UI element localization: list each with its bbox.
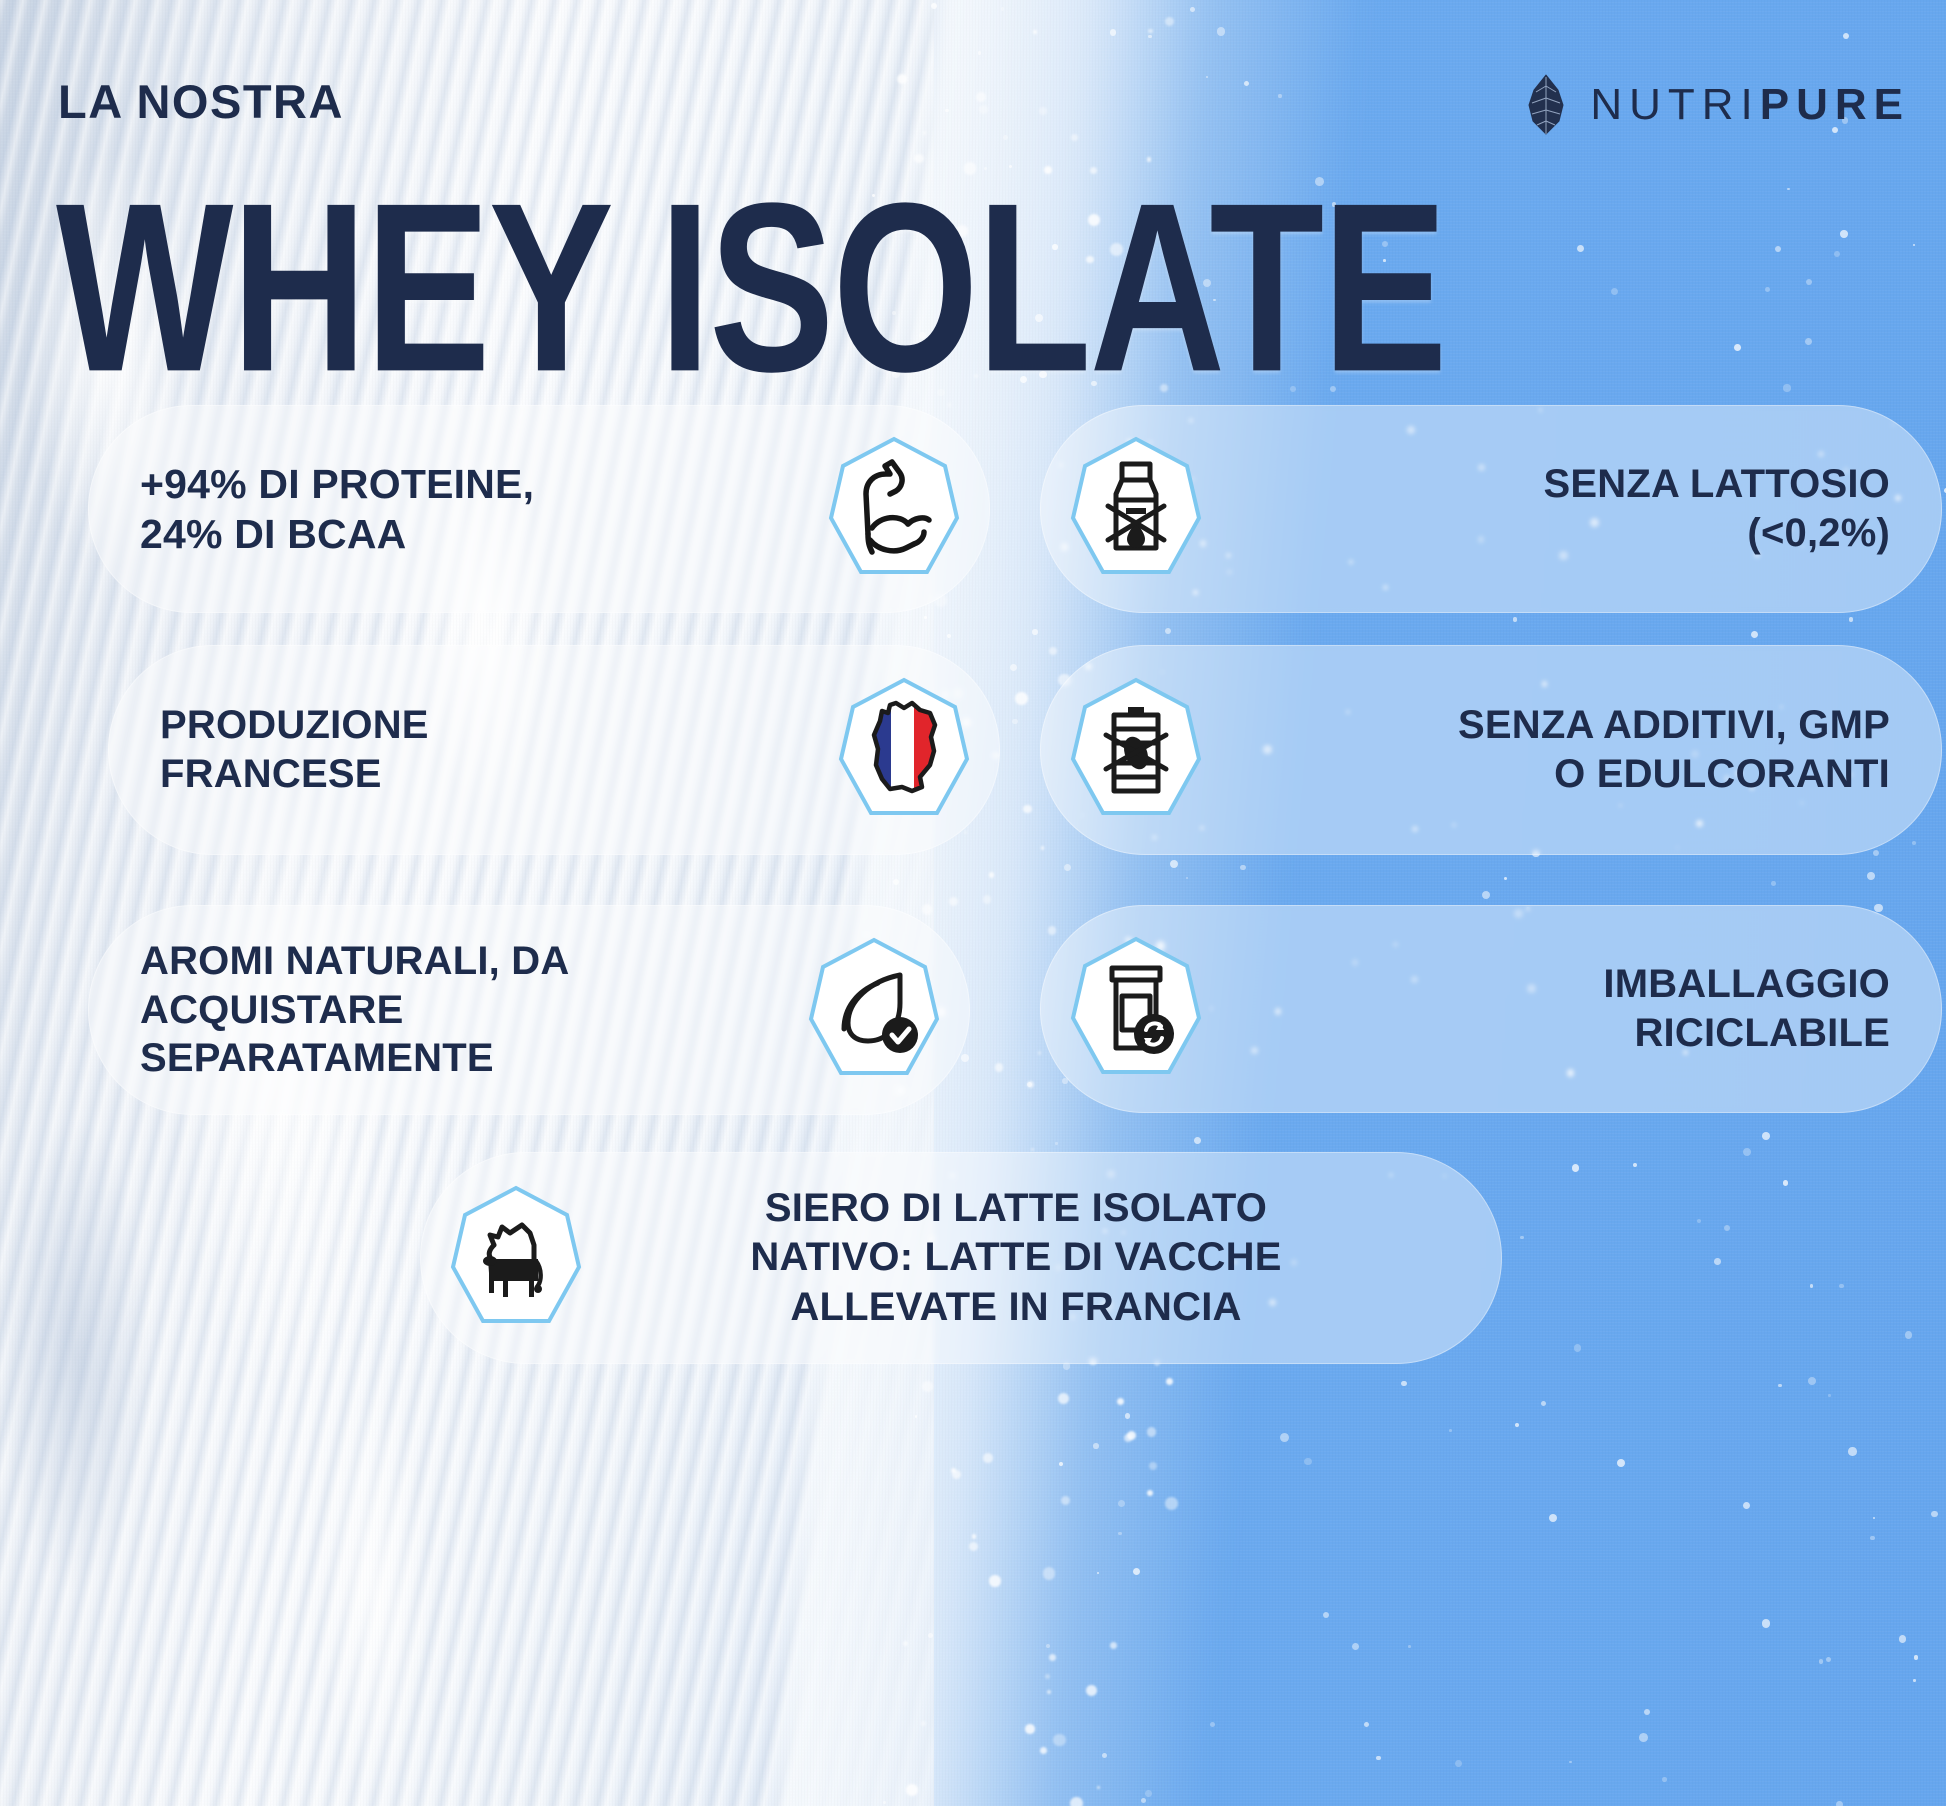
cow-icon	[450, 1185, 582, 1331]
page-kicker: LA NOSTRA	[58, 74, 344, 129]
brand-name-bold: PURE	[1760, 80, 1910, 129]
leaf-icon	[1520, 74, 1572, 136]
bicep-flex-icon	[828, 436, 960, 582]
natural-leaf-check-icon	[808, 937, 940, 1083]
brand-name: NUTRIPURE	[1590, 80, 1910, 130]
no-additives-barrel-icon	[1070, 677, 1202, 823]
feature-label-proteine: +94% DI PROTEINE,24% DI BCAA	[140, 459, 828, 559]
feature-card-proteine: +94% DI PROTEINE,24% DI BCAA	[88, 405, 990, 613]
feature-card-lattosio: SENZA LATTOSIO(<0,2%)	[1040, 405, 1942, 613]
feature-label-francese: PRODUZIONEFRANCESE	[160, 701, 838, 799]
recyclable-jar-icon	[1070, 936, 1202, 1082]
brand-logo: NUTRIPURE	[1520, 74, 1910, 136]
feature-label-lattosio: SENZA LATTOSIO(<0,2%)	[1202, 460, 1890, 558]
france-flag-map-icon	[838, 677, 970, 823]
feature-card-additivi: SENZA ADDITIVI, GMPO EDULCORANTI	[1040, 645, 1942, 855]
feature-label-imballaggio: IMBALLAGGIORICICLABILE	[1202, 960, 1890, 1058]
feature-card-imballaggio: IMBALLAGGIORICICLABILE	[1040, 905, 1942, 1113]
feature-card-aromi: AROMI NATURALI, DAACQUISTARESEPARATAMENT…	[88, 905, 970, 1115]
feature-label-aromi: AROMI NATURALI, DAACQUISTARESEPARATAMENT…	[140, 937, 808, 1083]
no-lactose-carton-icon	[1070, 436, 1202, 582]
brand-name-light: NUTRI	[1590, 80, 1759, 129]
feature-label-additivi: SENZA ADDITIVI, GMPO EDULCORANTI	[1202, 701, 1890, 799]
feature-card-francese: PRODUZIONEFRANCESE	[108, 645, 1000, 855]
feature-card-siero: SIERO DI LATTE ISOLATONATIVO: LATTE DI V…	[420, 1152, 1502, 1364]
feature-label-siero: SIERO DI LATTE ISOLATONATIVO: LATTE DI V…	[582, 1184, 1450, 1333]
page-title: WHEY ISOLATE	[56, 172, 1906, 403]
